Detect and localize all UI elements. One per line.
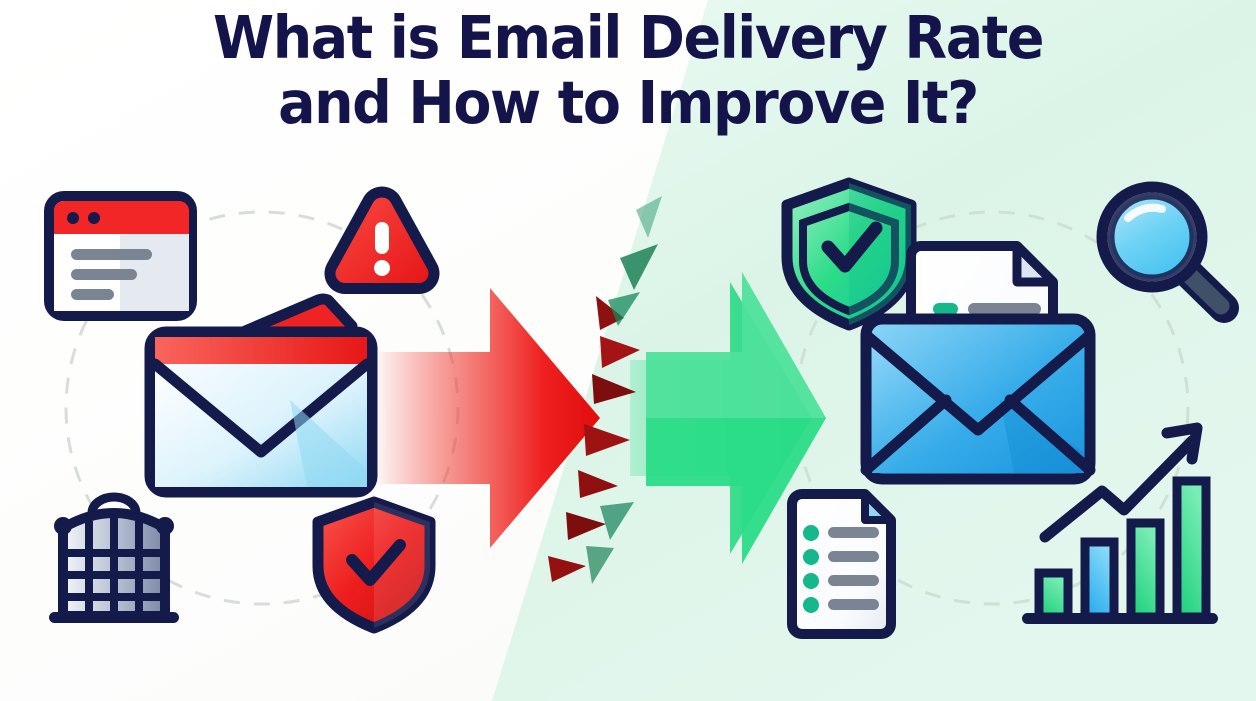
magnifier-icon — [1102, 187, 1224, 308]
green-shield-check-icon — [787, 183, 911, 325]
red-shield-check-icon — [318, 502, 430, 628]
browser-window-icon — [49, 196, 192, 316]
checklist-document-icon — [792, 494, 891, 634]
warning-triangle-icon — [330, 192, 434, 289]
chart-baseline — [1022, 613, 1218, 624]
closed-envelope-icon — [150, 299, 372, 492]
spam-cage-icon — [49, 497, 179, 623]
illustration-layer — [0, 0, 1256, 701]
hero-banner: What is Email Delivery Rate and How to I… — [0, 0, 1256, 701]
chart-bars — [1039, 481, 1206, 617]
